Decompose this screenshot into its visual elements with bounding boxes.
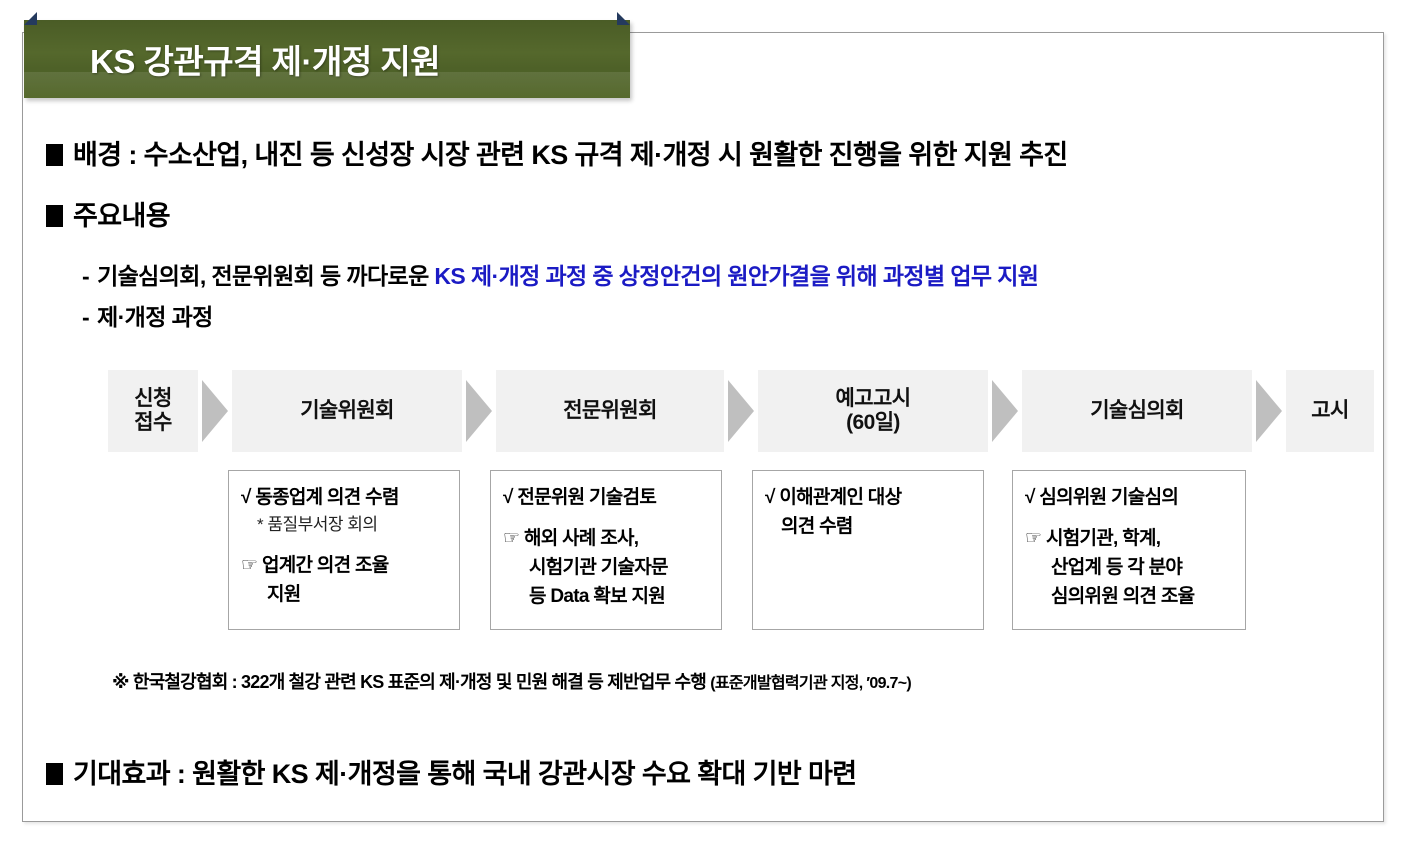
detail-2-check-text: 전문위원 기술검토 — [517, 487, 656, 508]
detail-3-check-line: √ 이해관계인 대상 — [765, 485, 973, 510]
sub-item-2-plain: 제·개정 과정 — [97, 304, 213, 330]
detail-2-check-line: √ 전문위원 기술검토 — [503, 485, 711, 510]
bullet-square-icon — [46, 144, 63, 166]
flow-step-5: 기술심의회 — [1022, 370, 1252, 452]
chevron-right-icon — [202, 380, 228, 442]
detail-box-3: √ 이해관계인 대상 의견 수렴 — [752, 470, 984, 630]
flow-step-6-label: 고시 — [1311, 399, 1348, 423]
detail-box-4: √ 심의위원 기술심의 ☞ 시험기관, 학계, 산업계 등 각 분야 심의위원 … — [1012, 470, 1246, 630]
bullet-square-icon — [46, 205, 63, 227]
page-title: KS 강관규격 제·개정 지원 — [90, 35, 440, 83]
detail-2-hand-text-2-wrap: 시험기관 기술자문 — [503, 555, 711, 580]
detail-1-hand-line: ☞ 업계간 의견 조율 — [241, 553, 449, 578]
check-mark-icon: √ — [765, 487, 775, 508]
detail-4-hand-text-2-wrap: 산업계 등 각 분야 — [1025, 555, 1235, 580]
detail-1-check-line: √ 동종업계 의견 수렴 — [241, 485, 449, 510]
effect-line: 기대효과 : 원활한 KS 제·개정을 통해 국내 강관시장 수요 확대 기반 … — [46, 752, 857, 791]
background-line-text: 배경 : 수소산업, 내진 등 신성장 시장 관련 KS 규격 제·개정 시 원… — [73, 140, 1068, 170]
chevron-right-icon — [466, 380, 492, 442]
flow-step-5-label: 기술심의회 — [1090, 399, 1184, 423]
process-flow: 신청 접수 기술위원회 전문위원회 예고고시 (60일) 기술심의회 고시 — [108, 370, 1364, 452]
pointing-hand-icon: ☞ — [241, 555, 257, 576]
pointing-hand-icon: ☞ — [503, 528, 519, 549]
detail-2-hand-text-1: 해외 사례 조사, — [524, 528, 638, 549]
sub-item-dash: - — [82, 304, 89, 330]
sub-item-1-plain: 기술심의회, 전문위원회 등 까다로운 — [97, 263, 434, 289]
flow-step-4: 예고고시 (60일) — [758, 370, 988, 452]
effect-line-text: 기대효과 : 원활한 KS 제·개정을 통해 국내 강관시장 수요 확대 기반 … — [73, 759, 857, 789]
check-mark-icon: √ — [1025, 487, 1035, 508]
detail-2-hand-text-3-wrap: 등 Data 확보 지원 — [503, 584, 711, 609]
detail-4-hand-text-3-wrap: 심의위원 의견 조율 — [1025, 584, 1235, 609]
detail-4-hand-text-3: 심의위원 의견 조율 — [1051, 586, 1194, 607]
chevron-right-icon — [992, 380, 1018, 442]
check-mark-icon: √ — [241, 487, 251, 508]
background-line: 배경 : 수소산업, 내진 등 신성장 시장 관련 KS 규격 제·개정 시 원… — [46, 133, 1068, 172]
pointing-hand-icon: ☞ — [1025, 528, 1041, 549]
sub-item-1-highlight: KS 제·개정 과정 중 상정안건의 원안가결을 위해 과정별 업무 지원 — [434, 263, 1038, 289]
detail-4-hand-text-1: 시험기관, 학계, — [1046, 528, 1160, 549]
flow-step-4-label: 예고고시 (60일) — [836, 387, 911, 436]
detail-1-hand-text-2-wrap: 지원 — [241, 582, 449, 607]
detail-3-check-text: 이해관계인 대상 — [779, 487, 901, 508]
chevron-right-icon — [1256, 380, 1282, 442]
detail-1-check-text: 동종업계 의견 수렴 — [255, 487, 398, 508]
detail-1-hand-text-1: 업계간 의견 조율 — [262, 555, 389, 576]
sub-item-2: -제·개정 과정 — [82, 298, 213, 332]
footnote-paren: (표준개발협력기관 지정, ′09.7~) — [710, 675, 911, 692]
title-banner: KS 강관규격 제·개정 지원 — [24, 20, 630, 98]
banner-corner-right-icon — [617, 12, 630, 25]
chevron-right-icon — [728, 380, 754, 442]
detail-2-hand-text-3: 등 Data 확보 지원 — [529, 586, 665, 607]
detail-box-2: √ 전문위원 기술검토 ☞ 해외 사례 조사, 시험기관 기술자문 등 Data… — [490, 470, 722, 630]
footnote-text: 한국철강협회 : 322개 철강 관련 KS 표준의 제·개정 및 민원 해결 … — [133, 672, 710, 692]
main-heading: 주요내용 — [46, 194, 170, 233]
detail-3-check-text-2: 의견 수렴 — [781, 516, 853, 537]
detail-4-check-line: √ 심의위원 기술심의 — [1025, 485, 1235, 510]
banner-corner-left-icon — [24, 12, 37, 25]
sub-item-dash: - — [82, 263, 89, 289]
flow-step-1: 신청 접수 — [108, 370, 198, 452]
asterisk-icon: * — [257, 515, 263, 534]
flow-step-3: 전문위원회 — [496, 370, 724, 452]
flow-step-3-label: 전문위원회 — [563, 399, 657, 423]
detail-4-hand-text-2: 산업계 등 각 분야 — [1051, 557, 1182, 578]
detail-2-hand-line: ☞ 해외 사례 조사, — [503, 526, 711, 551]
detail-4-hand-line: ☞ 시험기관, 학계, — [1025, 526, 1235, 551]
detail-1-note-text: 품질부서장 회의 — [267, 515, 377, 534]
bullet-square-icon — [46, 763, 63, 785]
flow-step-6: 고시 — [1286, 370, 1374, 452]
sub-item-1: -기술심의회, 전문위원회 등 까다로운 KS 제·개정 과정 중 상정안건의 … — [82, 257, 1038, 291]
detail-1-hand-text-2: 지원 — [267, 584, 301, 605]
detail-1-note-line: * 품질부서장 회의 — [241, 514, 449, 536]
check-mark-icon: √ — [503, 487, 513, 508]
reference-mark-icon: ※ — [112, 672, 129, 692]
detail-4-check-text: 심의위원 기술심의 — [1039, 487, 1178, 508]
flow-step-2-label: 기술위원회 — [300, 399, 394, 423]
detail-box-1: √ 동종업계 의견 수렴 * 품질부서장 회의 ☞ 업계간 의견 조율 지원 — [228, 470, 460, 630]
flow-step-1-label: 신청 접수 — [134, 387, 171, 436]
detail-2-hand-text-2: 시험기관 기술자문 — [529, 557, 668, 578]
footnote: ※ 한국철강협회 : 322개 철강 관련 KS 표준의 제·개정 및 민원 해… — [112, 668, 911, 694]
flow-step-2: 기술위원회 — [232, 370, 462, 452]
detail-3-check-text-2-wrap: 의견 수렴 — [765, 514, 973, 539]
main-heading-text: 주요내용 — [73, 201, 170, 231]
